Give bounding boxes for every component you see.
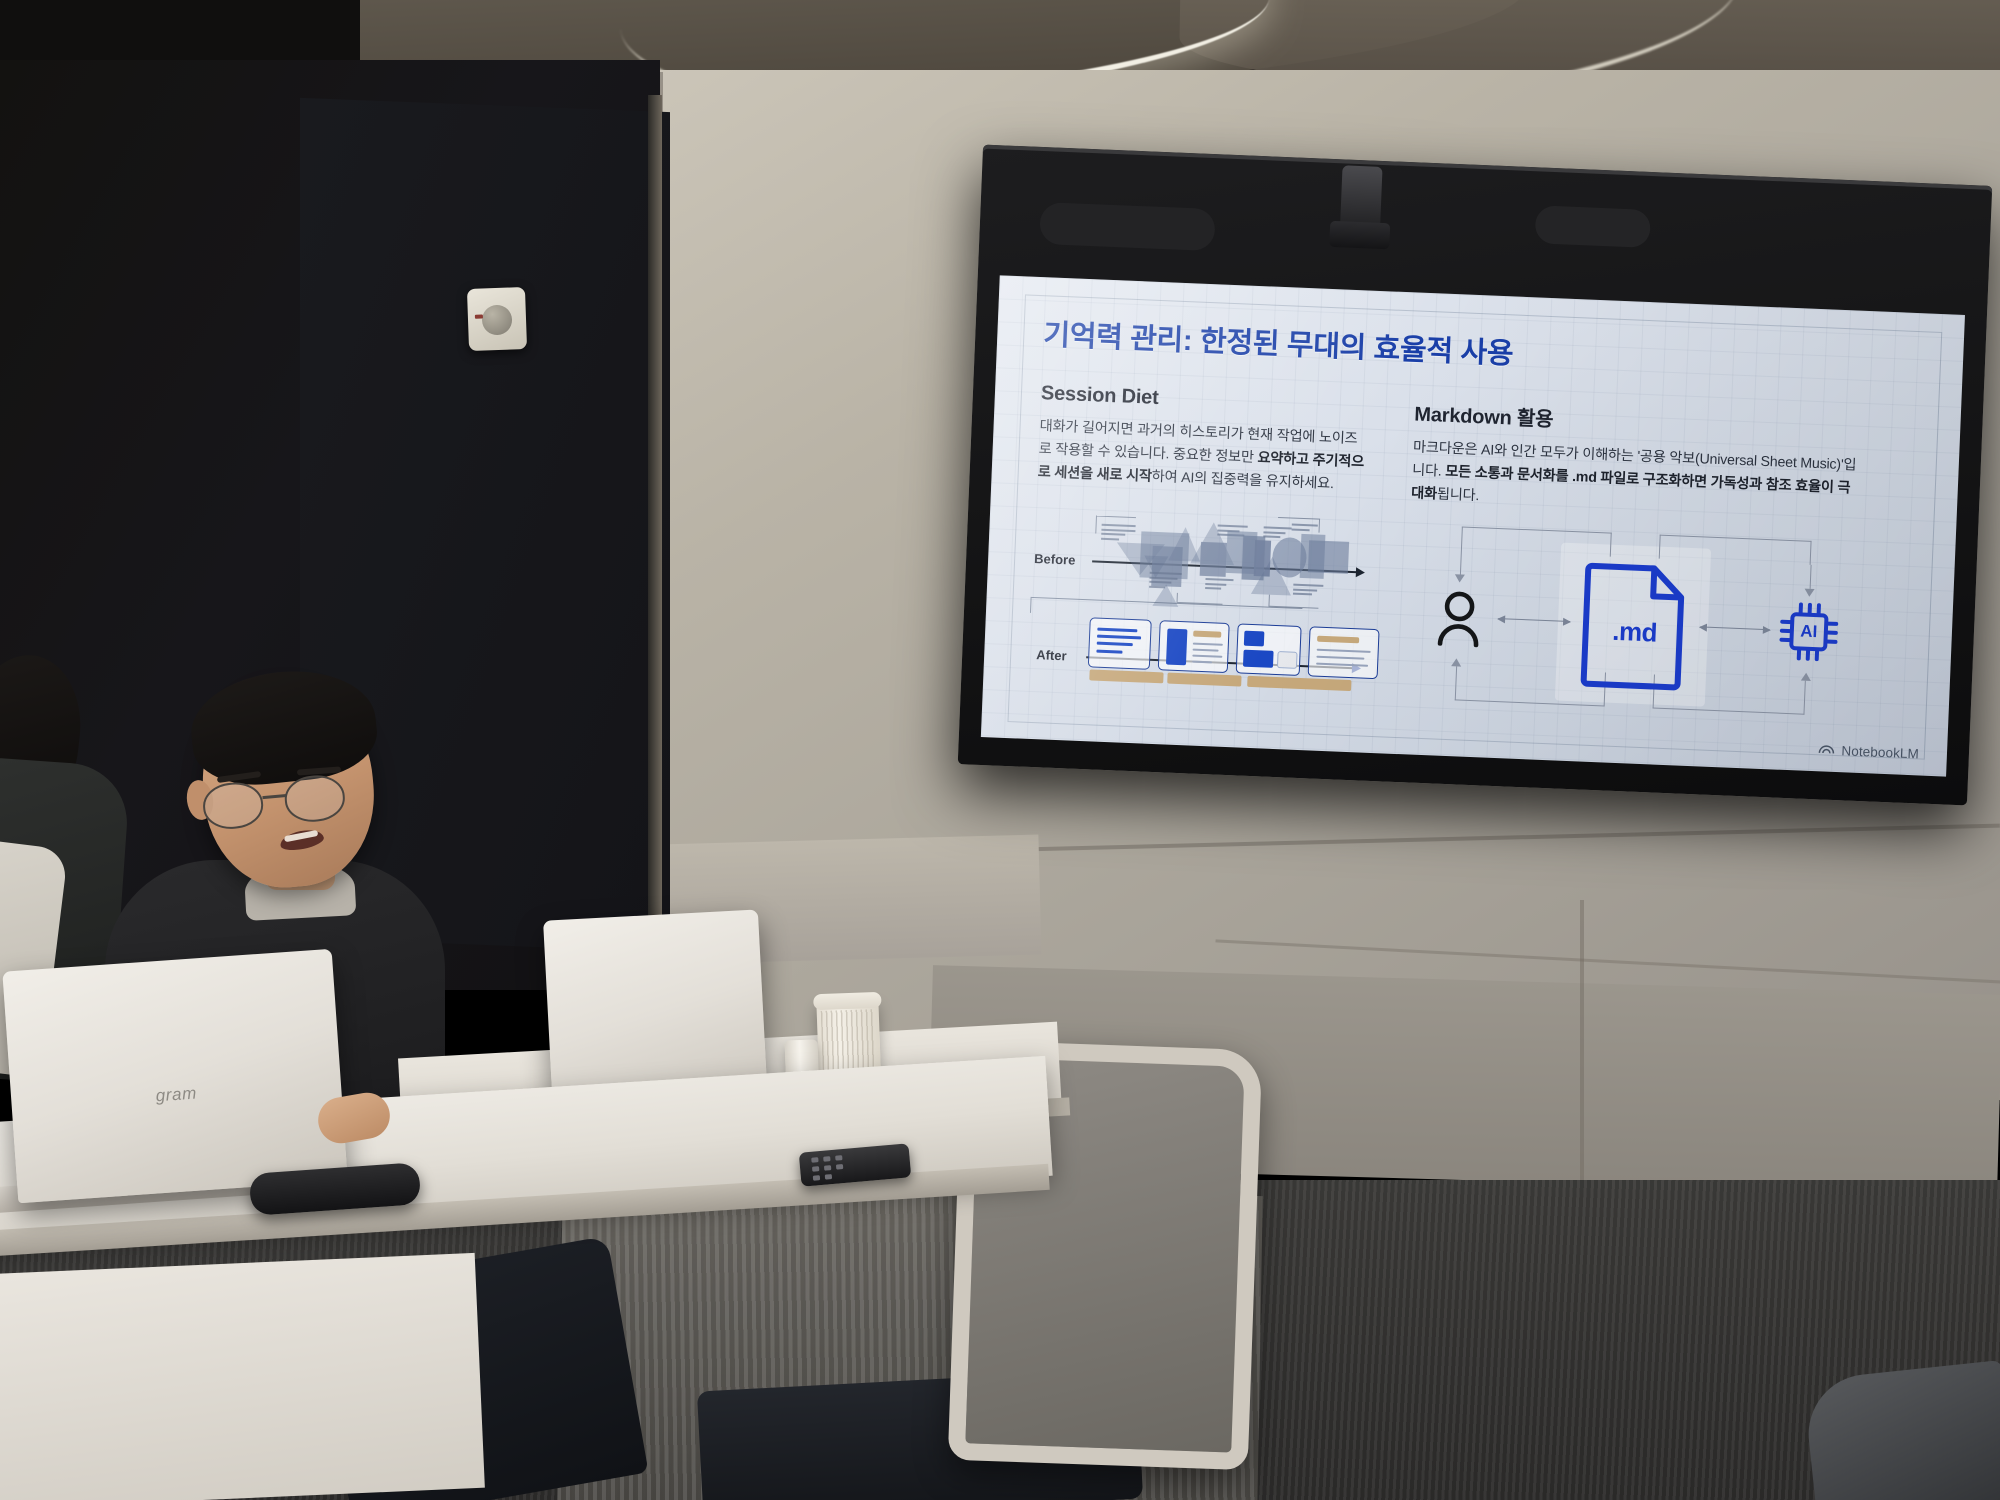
structured-cards-group <box>1087 611 1358 692</box>
markdown-file-label: .md <box>1579 558 1690 692</box>
summary-card <box>1236 623 1302 676</box>
loop-connector <box>1460 550 1462 574</box>
clutter-rect <box>1308 540 1349 574</box>
ceiling-sensor-icon <box>467 287 527 351</box>
timeline-bar <box>1247 676 1351 691</box>
loop-connector <box>1461 527 1612 557</box>
markdown-exchange-diagram: .md AI <box>1402 514 1862 732</box>
column-body-plain-tail: 됩니다. <box>1437 486 1480 504</box>
arrow-down-icon <box>1455 574 1465 582</box>
summary-card <box>1308 626 1380 679</box>
arrow-up-icon <box>1801 673 1811 681</box>
eyeglass-lens <box>201 780 265 831</box>
summary-card <box>1088 617 1152 670</box>
conference-display[interactable]: 기억력 관리: 한정된 무대의 효율적 사용 Session Diet 대화가 … <box>958 145 1993 806</box>
sensor-dome-icon <box>482 305 513 336</box>
bidirectional-arrow-icon <box>1700 626 1770 630</box>
speaker-grille-icon <box>1535 205 1651 248</box>
before-label: Before <box>1034 551 1076 568</box>
eyeglass-lens <box>283 773 347 824</box>
arrow-up-icon <box>1451 658 1461 666</box>
ai-chip-label: AI <box>1777 600 1841 664</box>
eyeglass-bridge <box>262 794 286 799</box>
notebooklm-label: NotebookLM <box>1841 743 1919 761</box>
summary-card <box>1158 620 1230 673</box>
camera-lens-icon <box>1329 221 1390 249</box>
laptop-brand-label: gram <box>155 1084 197 1107</box>
speaker-grille-icon <box>1039 202 1216 251</box>
clutter-triangle <box>1251 556 1293 596</box>
meeting-table-lower-section <box>0 1253 485 1500</box>
before-after-diagram: Before After <box>1029 505 1367 708</box>
timeline-bar <box>1089 669 1163 683</box>
markdown-file-icon: .md <box>1579 558 1690 692</box>
loop-connector <box>1810 565 1812 589</box>
clutter-connector <box>1278 517 1321 533</box>
presenter-mouth <box>279 827 326 853</box>
conference-room-scene: 기억력 관리: 한정된 무대의 효율적 사용 Session Diet 대화가 … <box>0 0 2000 1500</box>
clutter-rect <box>1200 542 1227 577</box>
notebooklm-logo-icon <box>1818 741 1836 758</box>
slide-column-session-diet: Session Diet 대화가 길어지면 과거의 히스토리가 현재 작업에 노… <box>1037 382 1371 497</box>
ai-chip-icon: AI <box>1777 600 1841 664</box>
arrow-down-icon <box>1804 589 1814 597</box>
column-body-plain-tail: 하여 AI의 집중력을 유지하세요. <box>1151 469 1334 492</box>
slide-column-markdown: Markdown 활용 마크다운은 AI와 인간 모두가 이해하는 '공용 악보… <box>1411 397 1865 523</box>
display-screen[interactable]: 기억력 관리: 한정된 무대의 효율적 사용 Session Diet 대화가 … <box>981 275 1965 776</box>
column-body: 대화가 길어지면 과거의 히스토리가 현재 작업에 노이즈로 작용할 수 있습니… <box>1037 415 1370 497</box>
clutter-text-block <box>1205 578 1234 593</box>
after-label: After <box>1036 647 1067 663</box>
clutter-text-block <box>1101 524 1136 544</box>
sensor-led-icon <box>475 314 483 318</box>
wall-seam <box>1580 900 1584 1180</box>
laptop-left[interactable]: gram <box>2 949 347 1203</box>
wall-corner-edge <box>648 95 662 965</box>
person-icon <box>1433 589 1485 647</box>
timeline-bar <box>1167 673 1241 687</box>
